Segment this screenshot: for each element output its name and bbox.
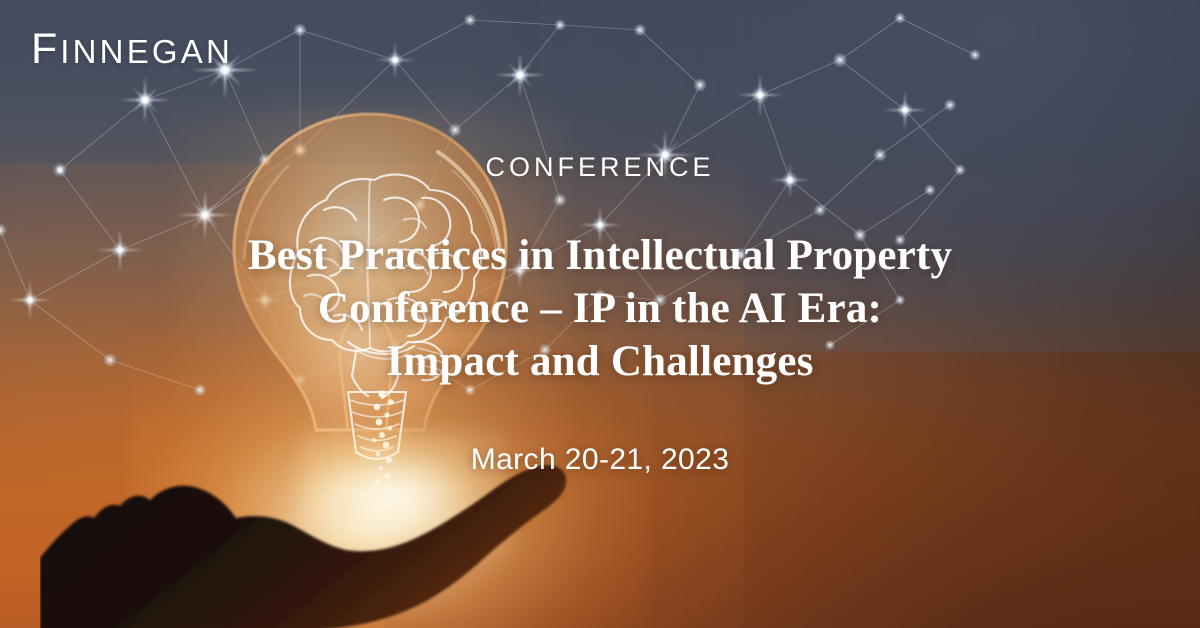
title-line-1: Best Practices in Intellectual Property [0,229,1200,282]
logo-rest: INNEGAN [60,33,233,70]
logo-initial: F [31,25,60,73]
page-title: Best Practices in Intellectual Property … [0,229,1200,388]
finnegan-logo[interactable]: FINNEGAN [31,28,233,71]
event-date: March 20-21, 2023 [0,443,1200,477]
event-type-label: CONFERENCE [0,152,1200,183]
conference-banner: FINNEGAN CONFERENCE Best Practices in In… [0,0,1200,628]
title-line-3: Impact and Challenges [0,335,1200,388]
title-line-2: Conference – IP in the AI Era: [0,282,1200,335]
